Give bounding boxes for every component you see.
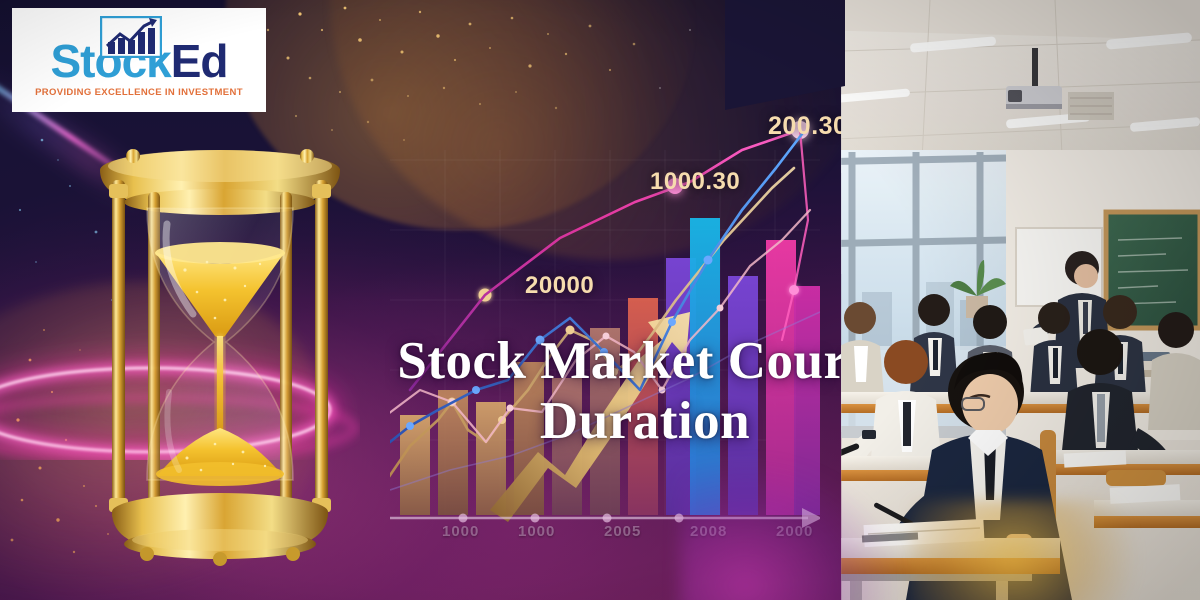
x-axis-tick-2: 2005 — [604, 523, 641, 540]
logo-tagline: PROVIDING EXCELLENCE IN INVESTMENT — [35, 87, 243, 98]
stock-chart-graphic — [390, 90, 820, 560]
x-axis-tick-4: 2000 — [776, 523, 813, 540]
hourglass-graphic — [75, 140, 365, 570]
x-axis-tick-3: 2008 — [690, 523, 727, 540]
promo-banner: 20000 1000.30 200.30 1000 1000 2005 2008… — [0, 0, 1200, 600]
brand-logo[interactable]: StockEd PROVIDING EXCELLENCE IN INVESTME… — [12, 8, 266, 112]
bar-chart-growth-icon — [100, 16, 162, 58]
chart-annotation-1000-30: 1000.30 — [650, 168, 740, 196]
x-axis-tick-0: 1000 — [442, 523, 479, 540]
chart-annotation-200-30: 200.30 — [768, 112, 847, 141]
logo-text-ed: Ed — [171, 38, 228, 84]
classroom-photo — [810, 0, 1200, 600]
magenta-data-point-low — [789, 285, 799, 295]
x-axis-tick-1: 1000 — [518, 523, 555, 540]
chart-annotation-20000: 20000 — [525, 272, 594, 300]
